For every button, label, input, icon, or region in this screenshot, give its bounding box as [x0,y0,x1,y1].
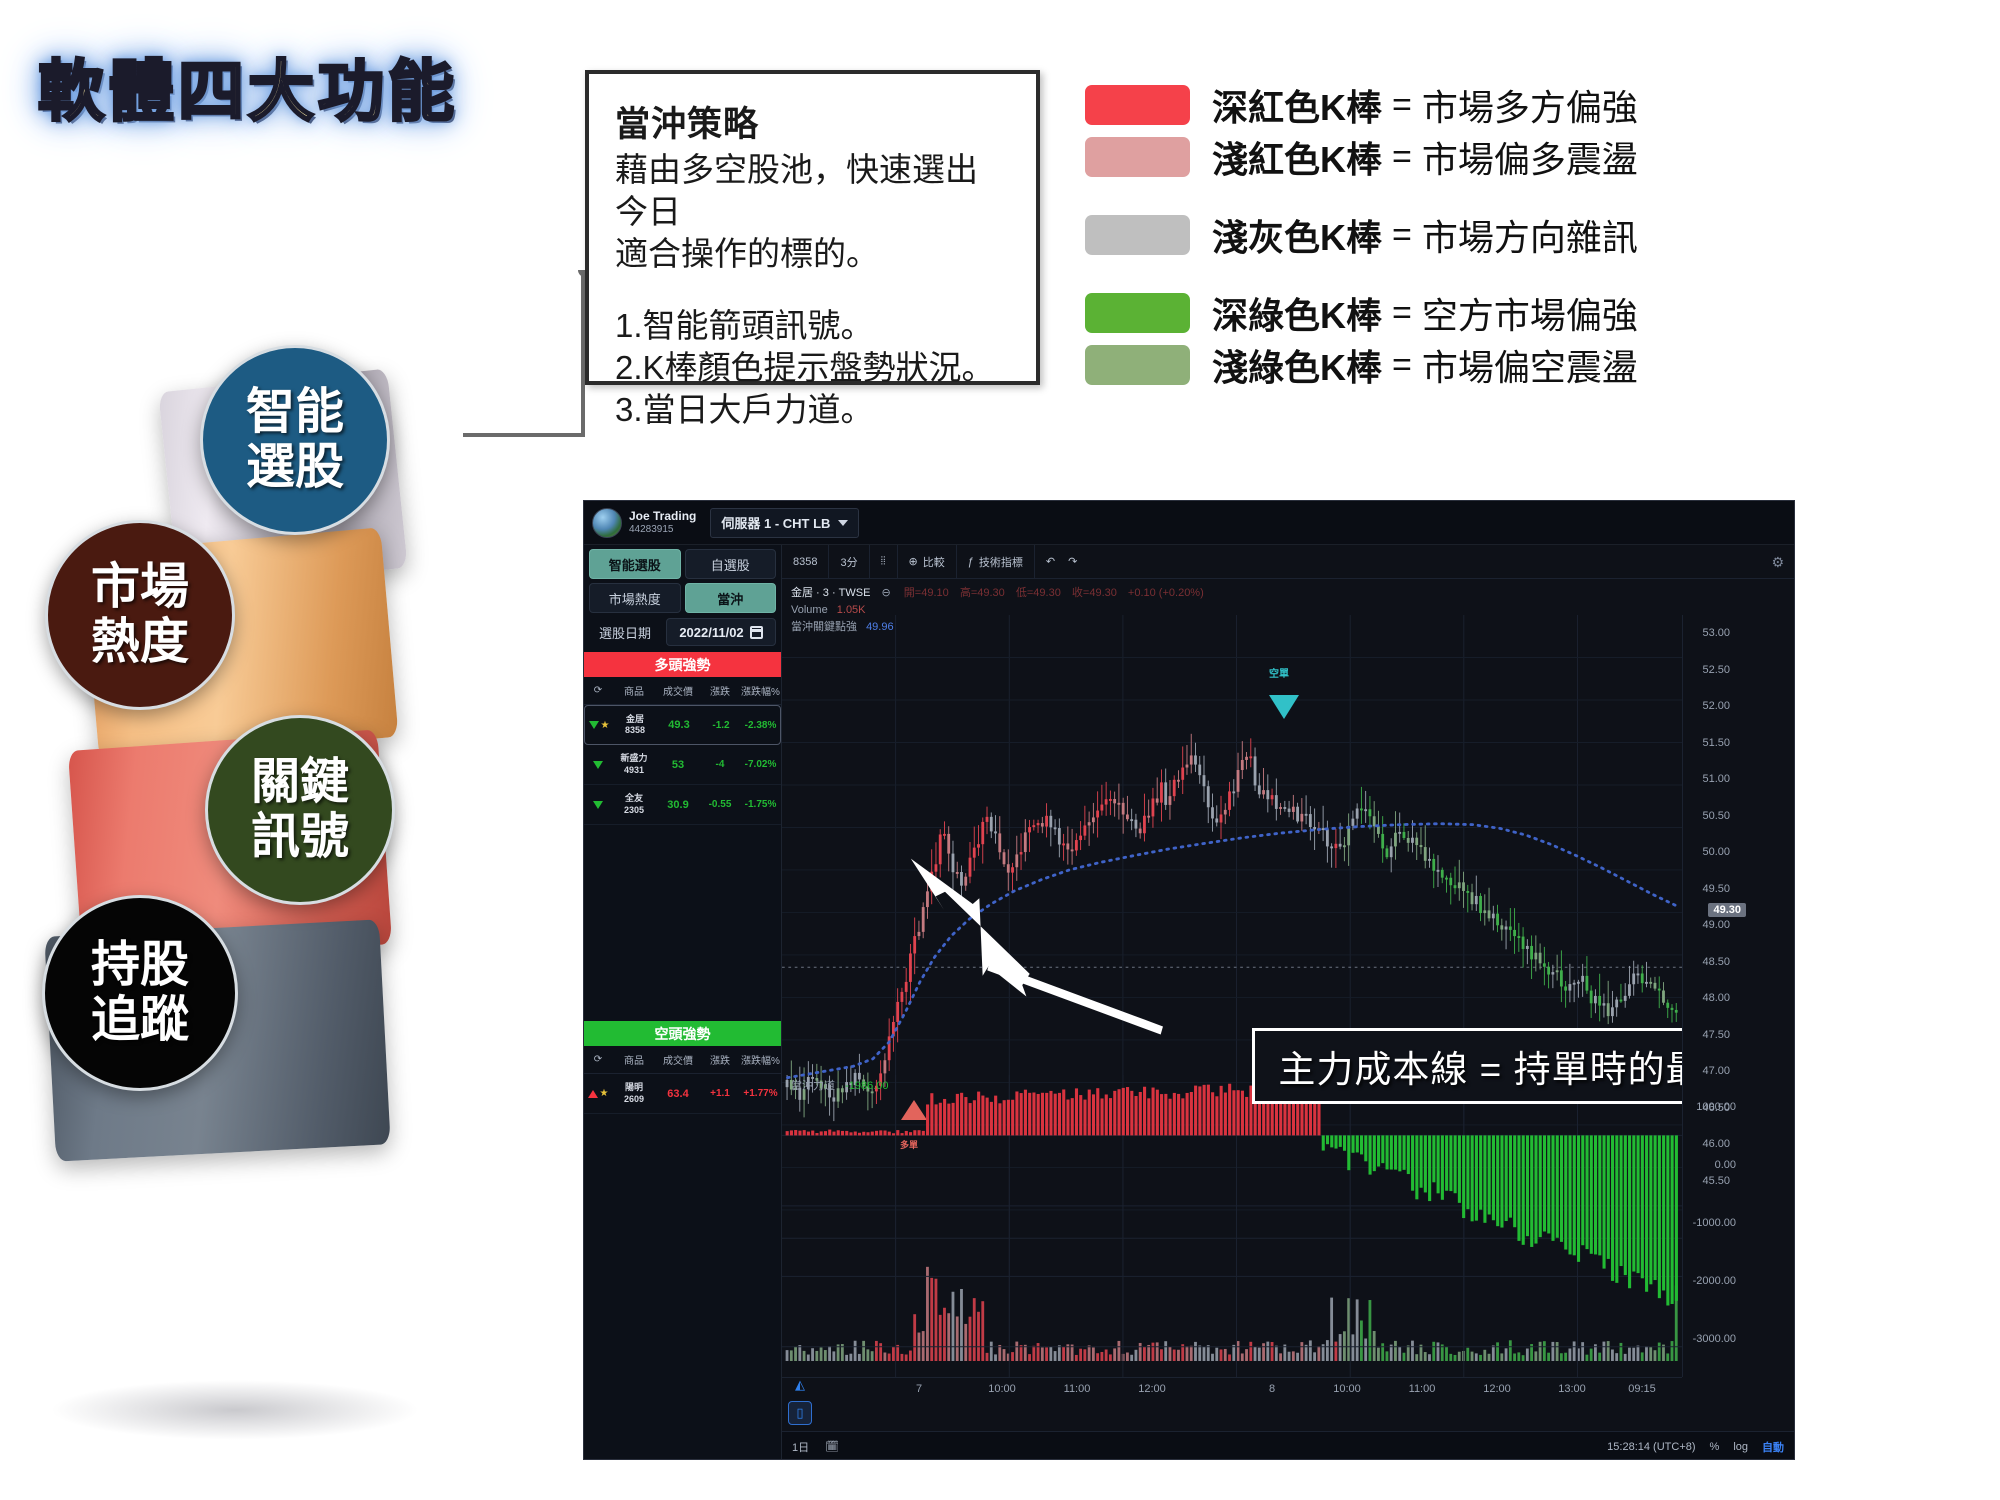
price-tick: 48.00 [1702,992,1730,1004]
time-tick: 13:00 [1558,1383,1586,1395]
star-icon[interactable]: ★ [601,720,610,731]
stock-selection-panel: 智能選股 自選股 市場熱度 當沖 選股日期 2022/11/02 多頭強勢 ⟳ … [584,545,782,1460]
legend-value: 空方市場偏強 [1422,287,1638,339]
long-panel-columns: ⟳ 商品 成交價 漲跌 漲跌幅% [584,677,781,705]
page-title: 軟體四大功能 [38,38,458,134]
candle-color-legend: 深紅色K棒 = 市場多方偏強 淺紅色K棒 = 市場偏多震盪 淺灰色K棒 = 市場… [1085,80,1975,392]
tab-smart-pick[interactable]: 智能選股 [589,549,681,579]
stock-change-pct: -2.38% [741,720,780,731]
date-value: 2022/11/02 [679,625,743,640]
legend-value: 市場偏多震盪 [1422,131,1638,183]
price-tick: 47.50 [1702,1029,1730,1041]
up-arrow-icon [588,1090,598,1098]
price-tick: 53.00 [1702,627,1730,639]
badge-line1: 關鍵 [251,755,349,810]
time-tick: 09:15 [1628,1383,1656,1395]
avatar[interactable] [592,508,622,538]
lower-indicator-label: 當沖力道 [791,1080,835,1092]
server-label: 伺服器 1 - CHT LB [721,513,830,532]
lower-indicator-canvas [782,1075,1682,1377]
table-row[interactable]: ★ 金居 8358 49.3 -1.2 -2.38% [584,705,781,745]
stock-change: -4 [700,759,740,770]
stock-code: 8358 [625,725,645,735]
down-arrow-icon [589,721,599,729]
column-header-change-pct: 漲跌幅% [740,1052,781,1067]
badge-line1: 智能 [246,385,344,440]
stock-code: 2305 [624,805,644,815]
redo-icon[interactable]: ↷ [1068,555,1077,568]
stock-code: 4931 [624,765,644,775]
legend-key: 淺紅色K棒 [1212,131,1382,183]
stock-price: 30.9 [656,799,700,811]
force-tick: 0.00 [1715,1159,1736,1171]
compare-button[interactable]: ⊕ 比較 [898,545,957,579]
badge-line2: 選股 [246,440,344,495]
high-label: 高= [960,587,977,599]
tab-row-secondary: 市場熱度 當沖 [584,579,781,613]
tab-market-heat[interactable]: 市場熱度 [589,583,681,613]
price-tick: 52.00 [1702,700,1730,712]
time-tick: 7 [916,1383,922,1395]
force-tick: -3000.00 [1693,1333,1736,1345]
stock-code: 2609 [624,1094,644,1104]
chart-bottom-left-tools: ◭ ▯ [788,1369,812,1425]
legend-value: 市場方向雜訊 [1422,209,1638,261]
star-icon[interactable]: ★ [600,1088,609,1099]
auto-scale-button[interactable]: 自動 [1762,1439,1784,1455]
legend-item: 淺綠色K棒 = 市場偏空震盪 [1085,340,1975,390]
column-header-change-pct: 漲跌幅% [740,683,781,698]
time-tick: 8 [1269,1383,1275,1395]
legend-equals: = [1392,86,1412,125]
server-select[interactable]: 伺服器 1 - CHT LB [710,508,859,538]
table-row[interactable]: 新盛力 4931 53 -4 -7.02% [584,745,781,785]
refresh-icon[interactable]: ⟳ [584,685,612,696]
graphic-shadow [50,1380,420,1440]
strategy-item-3: 3.當日大戶力道。 [615,389,1010,431]
date-picker-row: 選股日期 2022/11/02 [584,613,781,652]
chart-area: 8358 3分 ⦙⦙ ⊕ 比較 ƒ 技術指標 ↶ ↷ ⚙ [782,545,1794,1460]
time-tick: 10:00 [1333,1383,1361,1395]
time-axis[interactable]: 710:0011:0012:00810:0011:0012:0013:0009:… [782,1377,1682,1403]
legend-value: 市場多方偏強 [1422,79,1638,131]
price-tick: 51.50 [1702,737,1730,749]
force-bars [786,1082,1678,1305]
stock-price: 63.4 [656,1088,700,1100]
column-header-price: 成交價 [656,1052,700,1067]
short-signal-label: 空單 [1269,665,1289,680]
low-value: 49.30 [1033,587,1061,599]
calendar-range-icon[interactable]: 🗓 [825,1440,839,1453]
badge-line2: 追蹤 [91,993,189,1048]
stock-change: -1.2 [701,720,741,731]
percent-scale-button[interactable]: % [1710,1441,1720,1453]
legend-item: 深紅色K棒 = 市場多方偏強 [1085,80,1975,130]
legend-swatch-dark-red [1085,85,1190,125]
indicators-label: 技術指標 [979,554,1023,570]
column-header-price: 成交價 [656,683,700,698]
stock-change-pct: -1.75% [740,799,781,810]
legend-swatch-light-red [1085,137,1190,177]
badge-line2: 訊號 [251,810,349,865]
app-top-bar: Joe Trading 44283915 伺服器 1 - CHT LB [584,501,1794,545]
strategy-item-2: 2.K棒顏色提示盤勢狀況。 [615,347,1010,389]
close-label: 收= [1072,587,1089,599]
short-panel-columns: ⟳ 商品 成交價 漲跌 漲跌幅% [584,1046,781,1074]
symbol-description: 金居 · 3 · TWSE [791,587,870,599]
stock-name: 陽明 [625,1082,643,1092]
legend-equals: = [1392,138,1412,177]
stock-change: -0.55 [700,799,740,810]
table-row[interactable]: 全友 2305 30.9 -0.55 -1.75% [584,785,781,825]
timeframe-button[interactable]: 1日 [792,1439,809,1455]
time-tick: 11:00 [1409,1383,1436,1395]
open-value: 49.10 [921,587,949,599]
long-panel-header: 多頭強勢 [584,652,781,677]
stock-name: 金居 [626,714,644,724]
column-header-product: 商品 [612,683,656,698]
account-info: Joe Trading 44283915 [629,510,696,534]
legend-equals: = [1392,346,1412,385]
trading-app-screenshot: Joe Trading 44283915 伺服器 1 - CHT LB 智能選股… [583,500,1795,1460]
low-label: 低= [1016,587,1033,599]
down-arrow-icon [593,801,603,809]
legend-key: 深綠色K棒 [1212,287,1382,339]
legend-key: 深紅色K棒 [1212,79,1382,131]
legend-swatch-light-gray [1085,215,1190,255]
stock-price: 53 [656,759,700,771]
compare-label: 比較 [923,554,945,570]
chevron-down-icon [838,520,848,526]
table-row[interactable]: ★ 陽明 2609 63.4 +1.1 +1.77% [584,1074,781,1114]
chart-status-bar: 1日 🗓 15:28:14 (UTC+8) % log 自動 [782,1431,1794,1460]
undo-icon[interactable]: ↶ [1046,555,1055,568]
interval-button[interactable]: 3分 [829,545,869,579]
badge-holdings-tracking[interactable]: 持股 追蹤 [42,895,238,1091]
close-value: 49.30 [1089,587,1117,599]
legend-swatch-dark-green [1085,293,1190,333]
candlestick-icon[interactable]: ⦙⦙ [870,545,898,579]
tab-watchlist[interactable]: 自選股 [685,549,777,579]
legend-item: 淺灰色K棒 = 市場方向雜訊 [1085,210,1975,260]
cost-line-callout: 主力成本線 = 持單時的最後防守點 [1252,1028,1682,1104]
lower-indicator-value: -1986.00 [845,1080,888,1092]
open-label: 開= [904,587,921,599]
gear-icon[interactable]: ⚙ [1771,554,1784,571]
badge-market-heat[interactable]: 市場 熱度 [45,520,235,710]
date-picker-input[interactable]: 2022/11/02 [666,618,776,646]
stock-change-pct: +1.77% [740,1088,781,1099]
stock-price: 49.3 [657,719,701,731]
account-id: 44283915 [629,524,696,535]
symbol-button[interactable]: 8358 [782,545,829,579]
badge-key-signal[interactable]: 關鍵 訊號 [205,715,395,905]
strategy-line-2: 適合操作的標的。 [615,233,1010,275]
bird-logo-icon[interactable]: ◭ [788,1373,812,1397]
stock-name: 新盛力 [620,753,647,763]
price-tick: 49.50 [1702,883,1730,895]
legend-key: 淺灰色K棒 [1212,209,1382,261]
strategy-line-1: 藉由多空股池，快速選出今日 [615,149,1010,233]
high-value: 49.30 [977,587,1005,599]
stock-name: 全友 [625,793,643,803]
legend-key: 淺綠色K棒 [1212,339,1382,391]
mobile-view-icon[interactable]: ▯ [788,1401,812,1425]
log-scale-button[interactable]: log [1733,1441,1748,1453]
badge-line1: 持股 [91,938,189,993]
function-icon: ƒ [968,556,974,568]
badge-smart-stock-pick[interactable]: 智能 選股 [200,345,390,535]
change-value: +0.10 (+0.20%) [1128,587,1204,599]
strategy-heading: 當沖策略 [615,96,1010,147]
lower-indicator-panel: 當沖力道 -1986.00 [782,1075,1682,1377]
legend-value: 市場偏空震盪 [1422,339,1638,391]
visibility-toggle-icon[interactable]: ⊖ [882,587,891,599]
long-panel-empty-space [584,825,781,1021]
legend-equals: = [1392,216,1412,255]
short-panel-header: 空頭強勢 [584,1021,781,1046]
force-tick: 1000.00 [1696,1101,1736,1113]
time-tick: 12:00 [1138,1383,1166,1395]
price-tick: 51.00 [1702,773,1730,785]
time-tick: 12:00 [1483,1383,1511,1395]
tab-row-primary: 智能選股 自選股 [584,545,781,579]
date-picker-label: 選股日期 [589,623,661,642]
price-tick: 52.50 [1702,664,1730,676]
stock-change: +1.1 [700,1088,740,1099]
price-tick: 48.50 [1702,956,1730,968]
badge-line2: 熱度 [91,615,189,670]
stock-change-pct: -7.02% [740,759,781,770]
price-tick: 49.00 [1702,919,1730,931]
badge-line1: 市場 [91,560,189,615]
legend-item: 深綠色K棒 = 空方市場偏強 [1085,288,1975,338]
tab-day-trade[interactable]: 當沖 [685,583,777,613]
plus-circle-icon: ⊕ [909,555,918,568]
short-signal-marker [1269,695,1299,719]
chart-toolbar: 8358 3分 ⦙⦙ ⊕ 比較 ƒ 技術指標 ↶ ↷ ⚙ [782,545,1794,579]
force-tick: -2000.00 [1693,1275,1736,1287]
callout-connector-line [455,270,595,570]
column-header-product: 商品 [612,1052,656,1067]
force-tick: -1000.00 [1693,1217,1736,1229]
legend-equals: = [1392,294,1412,333]
legend-swatch-light-green [1085,345,1190,385]
column-header-change: 漲跌 [700,683,740,698]
column-header-change: 漲跌 [700,1052,740,1067]
price-tick: 50.50 [1702,810,1730,822]
lower-indicator-axis: 1000.000.00-1000.00-2000.00-3000.00 [1682,1075,1794,1377]
undo-redo-group[interactable]: ↶ ↷ [1035,545,1088,579]
time-tick: 10:00 [988,1383,1016,1395]
legend-item: 淺紅色K棒 = 市場偏多震盪 [1085,132,1975,182]
indicators-button[interactable]: ƒ 技術指標 [957,545,1035,579]
refresh-icon[interactable]: ⟳ [584,1054,612,1065]
last-price-pill: 49.30 [1708,903,1746,917]
account-name: Joe Trading [629,510,696,523]
time-tick: 11:00 [1064,1383,1091,1395]
strategy-item-1: 1.智能箭頭訊號。 [615,305,1010,347]
calendar-icon [750,626,763,639]
chart-clock: 15:28:14 (UTC+8) [1607,1441,1695,1453]
down-arrow-icon [593,761,603,769]
strategy-callout-box: 當沖策略 藉由多空股池，快速選出今日 適合操作的標的。 1.智能箭頭訊號。 2.… [585,70,1040,385]
price-tick: 50.00 [1702,846,1730,858]
